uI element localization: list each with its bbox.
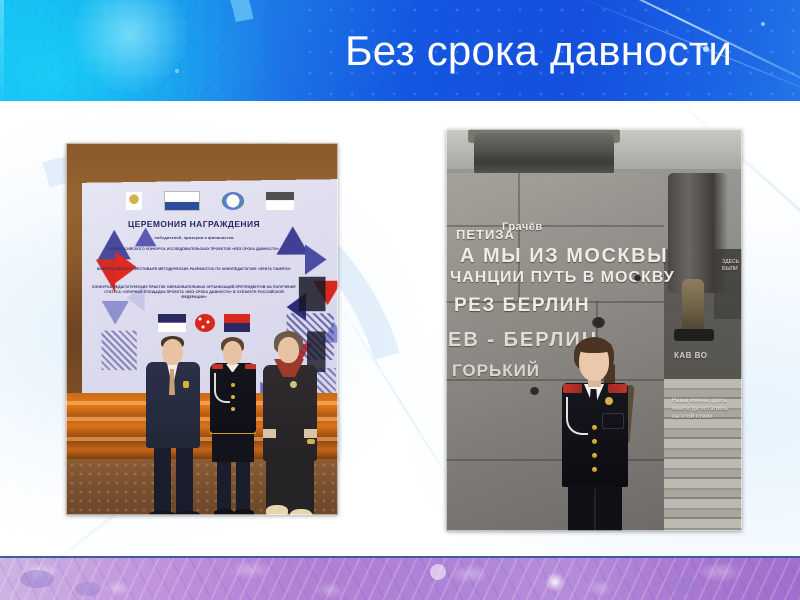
uniform-emblem-icon <box>605 397 613 405</box>
slide: Без срока давности <box>0 0 800 600</box>
uniform-button <box>592 439 597 444</box>
uniform-button <box>231 383 235 387</box>
uniform-button <box>231 395 235 399</box>
shoulder-board <box>212 364 223 369</box>
leg <box>176 446 193 515</box>
person-cadet-girl <box>542 337 646 531</box>
shoe <box>214 509 234 515</box>
trouser-seam <box>594 489 596 531</box>
victory-museum-logo-icon <box>266 192 294 210</box>
graffiti-text: ЗДЕСЬ БЫЛИ <box>722 259 742 273</box>
face <box>223 341 242 365</box>
hair-fringe <box>576 340 612 353</box>
shoe <box>266 505 288 515</box>
jacket-pocket <box>602 413 624 429</box>
footer-blob <box>75 582 101 596</box>
opornaya-ploshchadka-badge-icon <box>158 314 186 332</box>
footer-blob <box>668 578 698 594</box>
jacket <box>263 365 317 461</box>
shoe <box>174 511 200 515</box>
poster-title: ЦЕРЕМОНИЯ НАГРАЖДЕНИЯ <box>92 219 296 229</box>
shoe <box>290 509 312 515</box>
reichstag-wall-photo[interactable]: ПЕТИЗА Грачёв А МЫ ИЗ МОСКВЫ ЧАНЦИИ ПУТЬ… <box>446 129 742 531</box>
poster-badge-row <box>158 313 250 333</box>
uniform-button <box>592 453 597 458</box>
uniform-button <box>592 467 597 472</box>
footer-blob <box>545 572 565 592</box>
shoulder-board <box>563 384 582 393</box>
cuff <box>263 429 276 438</box>
graffiti-text: Грачёв <box>502 221 543 233</box>
poster-line-1: ВСЕРОССИЙСКОГО КОНКУРСА ИССЛЕДОВАТЕЛЬСКИ… <box>96 247 292 252</box>
leg <box>217 459 231 515</box>
soldier-statue <box>682 279 704 331</box>
graffiti-text: Наши имена здесь навсегда остались на эт… <box>672 397 736 421</box>
aiguillette <box>566 397 588 435</box>
slide-title: Без срока давности <box>345 24 775 78</box>
institute-logo-icon <box>222 192 244 210</box>
poster-block <box>299 277 326 311</box>
shoe <box>149 511 175 515</box>
poster-line-2: ВСЕРОССИЙСКОГО ФЕСТИВАЛЯ МЕТОДИЧЕСКИХ РА… <box>96 267 292 272</box>
shoe <box>234 509 254 515</box>
graffiti-text: РЕЗ БЕРЛИН <box>454 295 590 317</box>
bullet-hole <box>530 387 539 395</box>
bullet-hole <box>592 317 605 328</box>
poster-triangle <box>305 244 327 274</box>
footer-blob <box>430 564 446 580</box>
uniform-button <box>231 407 235 411</box>
graffiti-text: А МЫ ИЗ МОСКВЫ <box>460 245 668 268</box>
face <box>278 337 299 363</box>
statue-base <box>674 329 714 341</box>
award-ceremony-photo[interactable]: ЦЕРЕМОНИЯ НАГРАЖДЕНИЯ победителей, призе… <box>66 143 338 515</box>
footer-blob <box>20 570 54 588</box>
brooch-icon <box>290 381 297 388</box>
stone-column <box>474 133 614 175</box>
band-sparkle-icon <box>175 69 179 73</box>
ministry-logo-icon <box>164 191 200 211</box>
leg <box>154 446 171 515</box>
poster-logo-row <box>126 191 294 211</box>
lenta-pamyati-badge-icon <box>195 314 215 332</box>
lapel-badge-icon <box>183 381 189 388</box>
uniform-button <box>592 425 597 430</box>
cuff <box>304 429 317 438</box>
poster-triangle <box>102 301 129 325</box>
shoulder-board <box>608 384 627 393</box>
uniform-skirt <box>212 434 254 462</box>
graffiti-text: ГОРЬКИЙ <box>452 361 540 381</box>
poster-subtitle: победителей, призеров и финалистов <box>96 235 292 241</box>
graffiti-text: КАВ ВО <box>674 351 707 360</box>
poster-hatch <box>102 331 137 371</box>
footer-band <box>0 556 800 600</box>
leg <box>236 459 250 515</box>
bez-sroka-davnosti-badge-icon <box>224 314 250 332</box>
poster-line-3: КОНКУРСА ПЕДАГОГИЧЕСКИХ ПРАКТИК ОБРАЗОВА… <box>92 285 296 301</box>
bullet-hole <box>634 275 641 281</box>
shoulder-board <box>245 364 256 369</box>
coat-of-arms-logo-icon <box>126 192 142 210</box>
aiguillette <box>214 373 230 403</box>
wristwatch-icon <box>307 439 315 444</box>
face <box>162 339 183 365</box>
